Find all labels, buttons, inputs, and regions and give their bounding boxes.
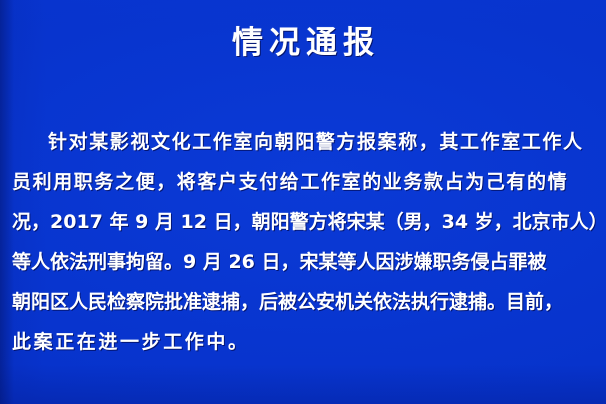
body-line-6: 此案正在进一步工作中。 [12, 322, 597, 362]
body-line-1: 针对某影视文化工作室向朝阳警方报案称，其工作室工作人 [12, 122, 597, 162]
body-line-5: 朝阳区人民检察院批准逮捕，后被公安机关依法执行逮捕。目前， [12, 282, 597, 322]
notice-poster: 情况通报 针对某影视文化工作室向朝阳警方报案称，其工作室工作人 员利用职务之便，… [0, 0, 606, 404]
poster-content: 情况通报 针对某影视文化工作室向朝阳警方报案称，其工作室工作人 员利用职务之便，… [0, 0, 606, 404]
page-title: 情况通报 [0, 23, 606, 63]
body-line-4: 等人依法刑事拘留。9 月 26 日，宋某等人因涉嫌职务侵占罪被 [12, 242, 597, 282]
body-line-2: 员利用职务之便，将客户支付给工作室的业务款占为己有的情 [12, 162, 597, 202]
announcement-body: 针对某影视文化工作室向朝阳警方报案称，其工作室工作人 员利用职务之便，将客户支付… [12, 122, 597, 362]
body-line-3: 况，2017 年 9 月 12 日，朝阳警方将宋某（男，34 岁，北京市人） [12, 202, 597, 242]
